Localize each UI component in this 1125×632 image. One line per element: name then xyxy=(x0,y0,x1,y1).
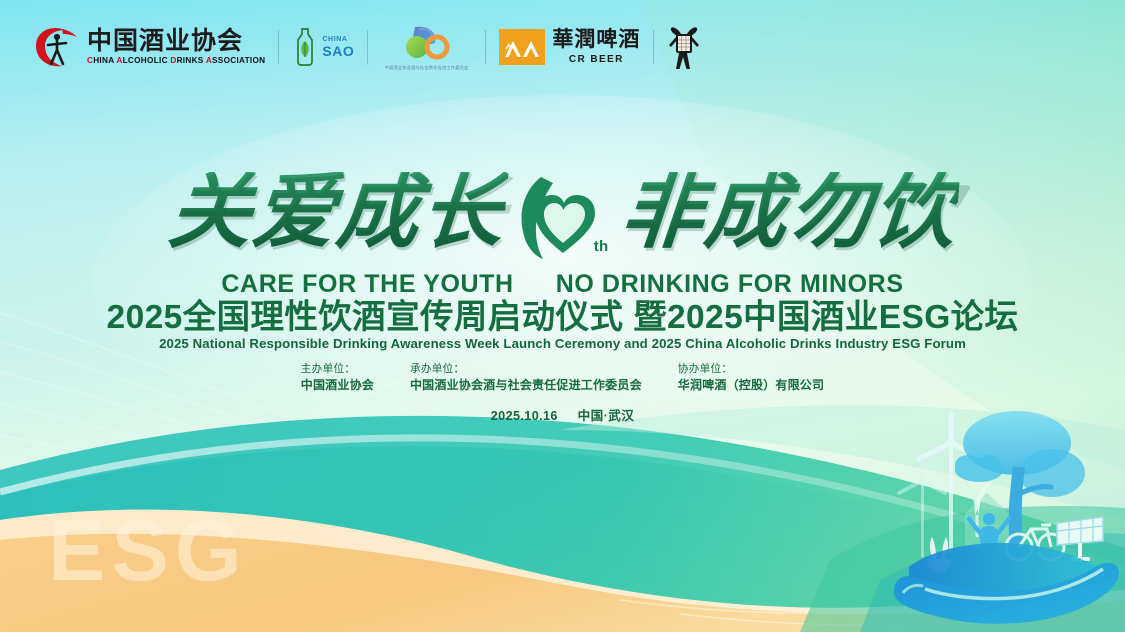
event-banner: ESG 中国酒业协会 CHINA ALCOHOLIC DRINKS ASSOCI… xyxy=(0,0,1125,632)
organizer-undertaker: 承办单位： 中国酒业协会酒与社会责任促进工作委员会 xyxy=(410,362,642,393)
emblem-ordinal-suffix: th xyxy=(594,238,609,255)
sphere-wrap: 中国酒业协会酒与社会责任促进工作委员会 xyxy=(381,23,472,71)
event-date: 2025.10.16 xyxy=(491,409,558,423)
organizer-value: 华润啤酒（控股）有限公司 xyxy=(678,377,824,393)
logo-wuhan-event-seal[interactable] xyxy=(654,18,714,76)
organizers-row: 主办单位： 中国酒业协会 承办单位： 中国酒业协会酒与社会责任促进工作委员会 协… xyxy=(0,362,1125,393)
sao-text: CHINA SAO xyxy=(322,36,354,58)
organizer-host: 主办单位： 中国酒业协会 xyxy=(301,362,374,393)
committee-subtitle: 中国酒业协会酒与社会责任促进工作委员会 xyxy=(385,65,469,71)
cloud-icon xyxy=(955,455,1003,482)
cada-crescent-figure-icon xyxy=(32,25,78,69)
sphere-ring-icon xyxy=(399,23,455,63)
organizer-label: 主办单位： xyxy=(301,362,374,376)
chinese-slogan: 关爱成长 th 非成勿饮 xyxy=(0,160,1125,266)
cr-beer-name-cn: 華潤啤酒 xyxy=(552,29,640,50)
slogan-en-left: CARE FOR THE YOUTH xyxy=(221,270,513,299)
sao-line2: SAO xyxy=(322,44,354,58)
cada-name-cn: 中国酒业协会 xyxy=(87,28,265,54)
cr-beer-text: 華潤啤酒 CR BEER xyxy=(552,29,640,65)
slogan-cn-right: 非成勿饮 xyxy=(617,172,960,254)
sao-bottle-leaf-icon xyxy=(292,27,318,67)
event-title-en: 2025 National Responsible Drinking Aware… xyxy=(0,336,1125,351)
headline-block: 关爱成长 th 非成勿饮 CARE FOR THE YOUTH NO DRINK… xyxy=(0,160,1125,299)
logo-cr-beer[interactable]: 華潤啤酒 CR BEER xyxy=(486,18,653,76)
logo-china-sao[interactable]: CHINA SAO xyxy=(279,18,367,76)
cada-name-en: CHINA ALCOHOLIC DRINKS ASSOCIATION xyxy=(87,55,265,66)
organizer-coorganizer: 协办单位： 华润啤酒（控股）有限公司 xyxy=(678,362,824,393)
esg-watermark: ESG xyxy=(48,508,248,594)
heart-16-icon: th xyxy=(511,165,615,261)
wind-turbine-icon-2 xyxy=(899,459,945,557)
logo-china-alcoholic-drinks-association[interactable]: 中国酒业协会 CHINA ALCOHOLIC DRINKS ASSOCIATIO… xyxy=(32,18,278,76)
dark-figure-seal-icon xyxy=(667,23,701,71)
cr-beer-mountain-icon xyxy=(499,27,545,67)
sao-line1: CHINA xyxy=(322,36,354,43)
slogan-en-right: NO DRINKING FOR MINORS xyxy=(556,270,904,299)
esg-hand-holding-green-world-illustration xyxy=(889,407,1119,632)
logo-responsible-drinking-committee[interactable]: 中国酒业协会酒与社会责任促进工作委员会 xyxy=(368,18,485,76)
cada-text: 中国酒业协会 CHINA ALCOHOLIC DRINKS ASSOCIATIO… xyxy=(87,28,265,67)
cr-beer-name-en: CR BEER xyxy=(569,54,624,65)
logo-bar: 中国酒业协会 CHINA ALCOHOLIC DRINKS ASSOCIATIO… xyxy=(32,18,714,76)
organizer-label: 协办单位： xyxy=(678,362,824,376)
slogan-cn-left: 关爱成长 xyxy=(165,172,508,254)
organizer-value: 中国酒业协会酒与社会责任促进工作委员会 xyxy=(410,377,642,393)
event-location: 中国·武汉 xyxy=(578,409,635,423)
organizer-value: 中国酒业协会 xyxy=(301,377,374,393)
organizer-label: 承办单位： xyxy=(410,362,642,376)
event-title-cn: 2025全国理性饮酒宣传周启动仪式 暨2025中国酒业ESG论坛 xyxy=(0,299,1125,337)
english-slogan: CARE FOR THE YOUTH NO DRINKING FOR MINOR… xyxy=(0,270,1125,299)
